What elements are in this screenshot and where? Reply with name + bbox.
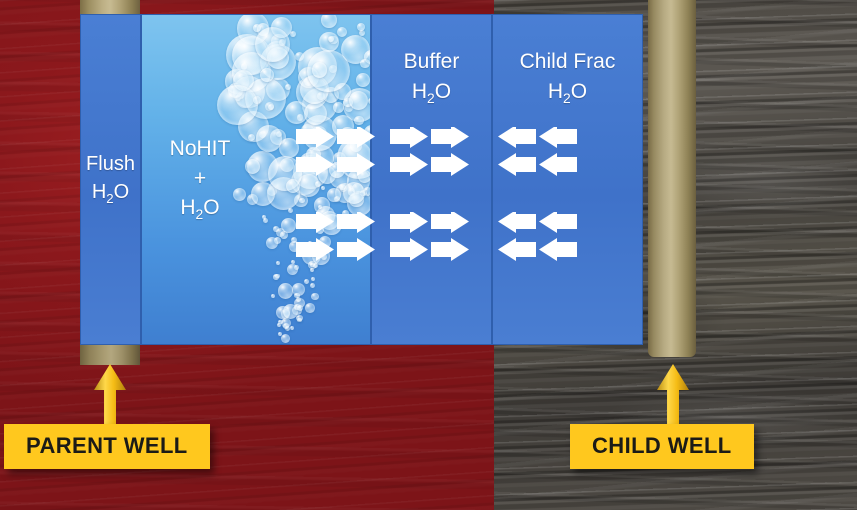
flow-arrow-left-icon bbox=[498, 212, 536, 266]
bubble-icon bbox=[290, 31, 296, 37]
flow-arrow-right-icon bbox=[337, 127, 375, 181]
bubble-icon bbox=[288, 208, 294, 214]
bubble-icon bbox=[285, 84, 291, 90]
flow-arrow-right-icon bbox=[337, 212, 375, 266]
bubble-icon bbox=[277, 323, 281, 327]
bubble-icon bbox=[280, 231, 288, 239]
bubble-icon bbox=[319, 32, 339, 52]
bubble-icon bbox=[278, 283, 294, 299]
child-well-callout[interactable]: CHILD WELL bbox=[570, 424, 754, 469]
bubble-icon bbox=[267, 47, 290, 70]
bubble-icon bbox=[304, 279, 309, 284]
bubble-icon bbox=[340, 185, 347, 192]
bubble-icon bbox=[273, 226, 279, 232]
bubble-icon bbox=[311, 277, 315, 281]
bubble-icon bbox=[248, 134, 255, 141]
bubble-icon bbox=[225, 69, 250, 94]
bubble-icon bbox=[291, 260, 295, 264]
bubble-icon bbox=[295, 52, 304, 61]
bubble-icon bbox=[232, 52, 272, 92]
bubble-icon bbox=[281, 334, 290, 343]
buffer-flow-arrows-lower bbox=[390, 212, 469, 266]
bubble-icon bbox=[327, 188, 341, 202]
bubble-icon bbox=[268, 104, 274, 110]
bubble-icon bbox=[281, 218, 296, 233]
bubble-icon bbox=[310, 268, 314, 272]
bubble-icon bbox=[349, 193, 364, 208]
bubble-icon bbox=[247, 194, 258, 205]
bubble-icon bbox=[267, 186, 277, 196]
bubble-icon bbox=[294, 304, 301, 311]
bubble-icon bbox=[283, 304, 298, 319]
bubble-icon bbox=[238, 111, 269, 142]
child-well-leader-arrow-icon bbox=[656, 364, 690, 428]
bubble-icon bbox=[266, 237, 278, 249]
bubble-icon bbox=[276, 131, 282, 137]
bubble-icon bbox=[270, 129, 286, 145]
bubble-icon bbox=[321, 186, 325, 190]
bubble-icon bbox=[271, 34, 286, 49]
bubble-icon bbox=[343, 88, 370, 122]
nohit-water-label: NoHIT + H2O bbox=[170, 134, 231, 225]
bubble-icon bbox=[276, 261, 280, 265]
parent-well-callout[interactable]: PARENT WELL bbox=[4, 424, 210, 469]
bubble-icon bbox=[334, 196, 340, 202]
bubble-icon bbox=[292, 283, 305, 296]
bubble-icon bbox=[233, 70, 255, 92]
bubble-icon bbox=[278, 320, 283, 325]
bubble-icon bbox=[236, 90, 254, 108]
bubble-icon bbox=[348, 188, 356, 196]
bubble-icon bbox=[352, 183, 364, 195]
child-wellbore[interactable] bbox=[648, 0, 696, 357]
bubble-icon bbox=[368, 98, 370, 105]
bubble-icon bbox=[283, 323, 289, 329]
flow-arrow-left-icon bbox=[539, 127, 577, 181]
flow-arrow-right-icon bbox=[296, 127, 334, 181]
bubble-icon bbox=[290, 326, 294, 330]
bubble-icon bbox=[345, 104, 353, 112]
bubble-icon bbox=[304, 102, 327, 125]
bubble-icon bbox=[279, 39, 286, 46]
bubble-icon bbox=[226, 34, 268, 76]
flow-arrow-right-icon bbox=[390, 127, 428, 181]
bubble-icon bbox=[266, 41, 286, 61]
bubble-icon bbox=[266, 78, 290, 102]
bubble-icon bbox=[312, 62, 328, 78]
bubble-icon bbox=[253, 96, 261, 104]
bubble-icon bbox=[343, 98, 352, 107]
bubble-icon bbox=[339, 184, 346, 191]
bubble-icon bbox=[328, 36, 334, 42]
bubble-icon bbox=[255, 27, 290, 62]
childfrac-flow-arrows-lower bbox=[498, 212, 577, 266]
buffer-water-label: Buffer H2O bbox=[404, 47, 460, 109]
bubble-icon bbox=[311, 293, 319, 301]
bubble-icon bbox=[297, 305, 303, 311]
bubble-icon bbox=[232, 36, 271, 75]
bubble-icon bbox=[317, 92, 325, 100]
bubble-icon bbox=[280, 158, 294, 172]
bubble-icon bbox=[321, 15, 337, 28]
nohit-flow-arrows-lower bbox=[296, 212, 375, 266]
bubble-icon bbox=[245, 78, 286, 119]
bubble-icon bbox=[360, 190, 367, 197]
bubble-icon bbox=[299, 198, 305, 204]
bubble-icon bbox=[318, 205, 322, 209]
bubble-icon bbox=[245, 159, 260, 174]
bubble-icon bbox=[286, 179, 300, 193]
bubble-icon bbox=[329, 36, 338, 45]
bubble-icon bbox=[343, 182, 366, 205]
bubble-icon bbox=[294, 298, 305, 309]
nohit-flow-arrows-upper bbox=[296, 127, 375, 181]
bubble-icon bbox=[285, 101, 308, 124]
bubble-icon bbox=[294, 194, 308, 208]
flow-arrow-right-icon bbox=[431, 127, 469, 181]
bubble-icon bbox=[334, 83, 351, 100]
bubble-icon bbox=[281, 318, 291, 328]
bubble-icon bbox=[310, 283, 315, 288]
flow-arrow-right-icon bbox=[296, 212, 334, 266]
bubble-icon bbox=[228, 83, 243, 98]
bubble-icon bbox=[297, 114, 304, 121]
flow-arrow-right-icon bbox=[390, 212, 428, 266]
bubble-icon bbox=[354, 116, 364, 126]
bubble-icon bbox=[275, 274, 279, 278]
bubble-icon bbox=[257, 23, 270, 36]
parent-wellbore-upper[interactable] bbox=[80, 0, 140, 14]
bubble-icon bbox=[259, 131, 266, 138]
bubble-icon bbox=[294, 265, 299, 270]
bubble-icon bbox=[305, 303, 315, 313]
bubble-icon bbox=[356, 73, 370, 87]
bubble-icon bbox=[260, 44, 296, 80]
bubble-icon bbox=[323, 87, 339, 103]
bubble-icon bbox=[292, 306, 302, 316]
bubble-icon bbox=[329, 65, 337, 73]
bubble-icon bbox=[364, 50, 370, 65]
bubble-icon bbox=[251, 182, 275, 206]
bubble-icon bbox=[273, 274, 279, 280]
bubble-icon bbox=[315, 181, 321, 187]
flush-water-zone[interactable]: Flush H2O bbox=[80, 14, 141, 345]
flow-arrow-left-icon bbox=[498, 127, 536, 181]
bubble-icon bbox=[253, 24, 261, 32]
bubble-icon bbox=[302, 88, 337, 123]
bubble-icon bbox=[335, 183, 355, 203]
bubble-icon bbox=[276, 306, 290, 320]
bubble-icon bbox=[307, 50, 350, 93]
bubble-icon bbox=[233, 76, 265, 108]
bubble-icon bbox=[233, 188, 246, 201]
bubble-icon bbox=[333, 102, 344, 113]
child-frac-water-label: Child Frac H2O bbox=[520, 47, 616, 109]
bubble-icon bbox=[274, 237, 281, 244]
parent-wellbore-lower[interactable] bbox=[80, 345, 140, 365]
bubble-icon bbox=[341, 35, 370, 64]
childfrac-flow-arrows-upper bbox=[498, 127, 577, 181]
flow-arrow-left-icon bbox=[539, 212, 577, 266]
bubble-icon bbox=[276, 228, 286, 238]
bubble-icon bbox=[298, 47, 337, 86]
bubble-icon bbox=[296, 297, 301, 302]
bubble-icon bbox=[235, 95, 241, 101]
bubble-icon bbox=[357, 23, 365, 31]
buffer-flow-arrows-upper bbox=[390, 127, 469, 181]
bubble-icon bbox=[297, 318, 302, 323]
bubble-icon bbox=[267, 177, 300, 210]
flow-arrow-right-icon bbox=[431, 212, 469, 266]
bubble-icon bbox=[262, 215, 266, 219]
bubble-icon bbox=[298, 67, 320, 89]
bubble-icon bbox=[360, 59, 370, 69]
flush-water-label: Flush H2O bbox=[86, 150, 135, 209]
bubble-icon bbox=[300, 75, 329, 104]
bubble-icon bbox=[238, 93, 244, 99]
bubble-icon bbox=[294, 293, 300, 299]
bubble-icon bbox=[247, 151, 278, 182]
bubble-icon bbox=[304, 77, 313, 86]
bubble-icon bbox=[278, 332, 282, 336]
bubble-icon bbox=[363, 187, 370, 196]
bubble-icon bbox=[349, 91, 369, 111]
bubble-icon bbox=[260, 68, 274, 82]
bubble-icon bbox=[296, 76, 329, 109]
bubble-icon bbox=[263, 218, 268, 223]
diagram-canvas: Flush H2O NoHIT + H2O Buffer H2O Child F… bbox=[0, 0, 857, 510]
bubble-icon bbox=[271, 294, 276, 299]
bubble-icon bbox=[217, 85, 258, 126]
bubble-icon bbox=[337, 27, 347, 37]
parent-well-leader-arrow-icon bbox=[93, 364, 127, 428]
bubble-icon bbox=[241, 63, 247, 69]
bubble-icon bbox=[271, 48, 277, 54]
bubble-icon bbox=[296, 315, 302, 321]
bubble-icon bbox=[359, 30, 365, 36]
bubble-icon bbox=[271, 17, 292, 38]
bubble-icon bbox=[237, 15, 270, 45]
bubble-icon bbox=[265, 102, 274, 111]
bubble-icon bbox=[281, 309, 291, 319]
bubble-icon bbox=[256, 125, 283, 152]
bubble-icon bbox=[285, 326, 290, 331]
